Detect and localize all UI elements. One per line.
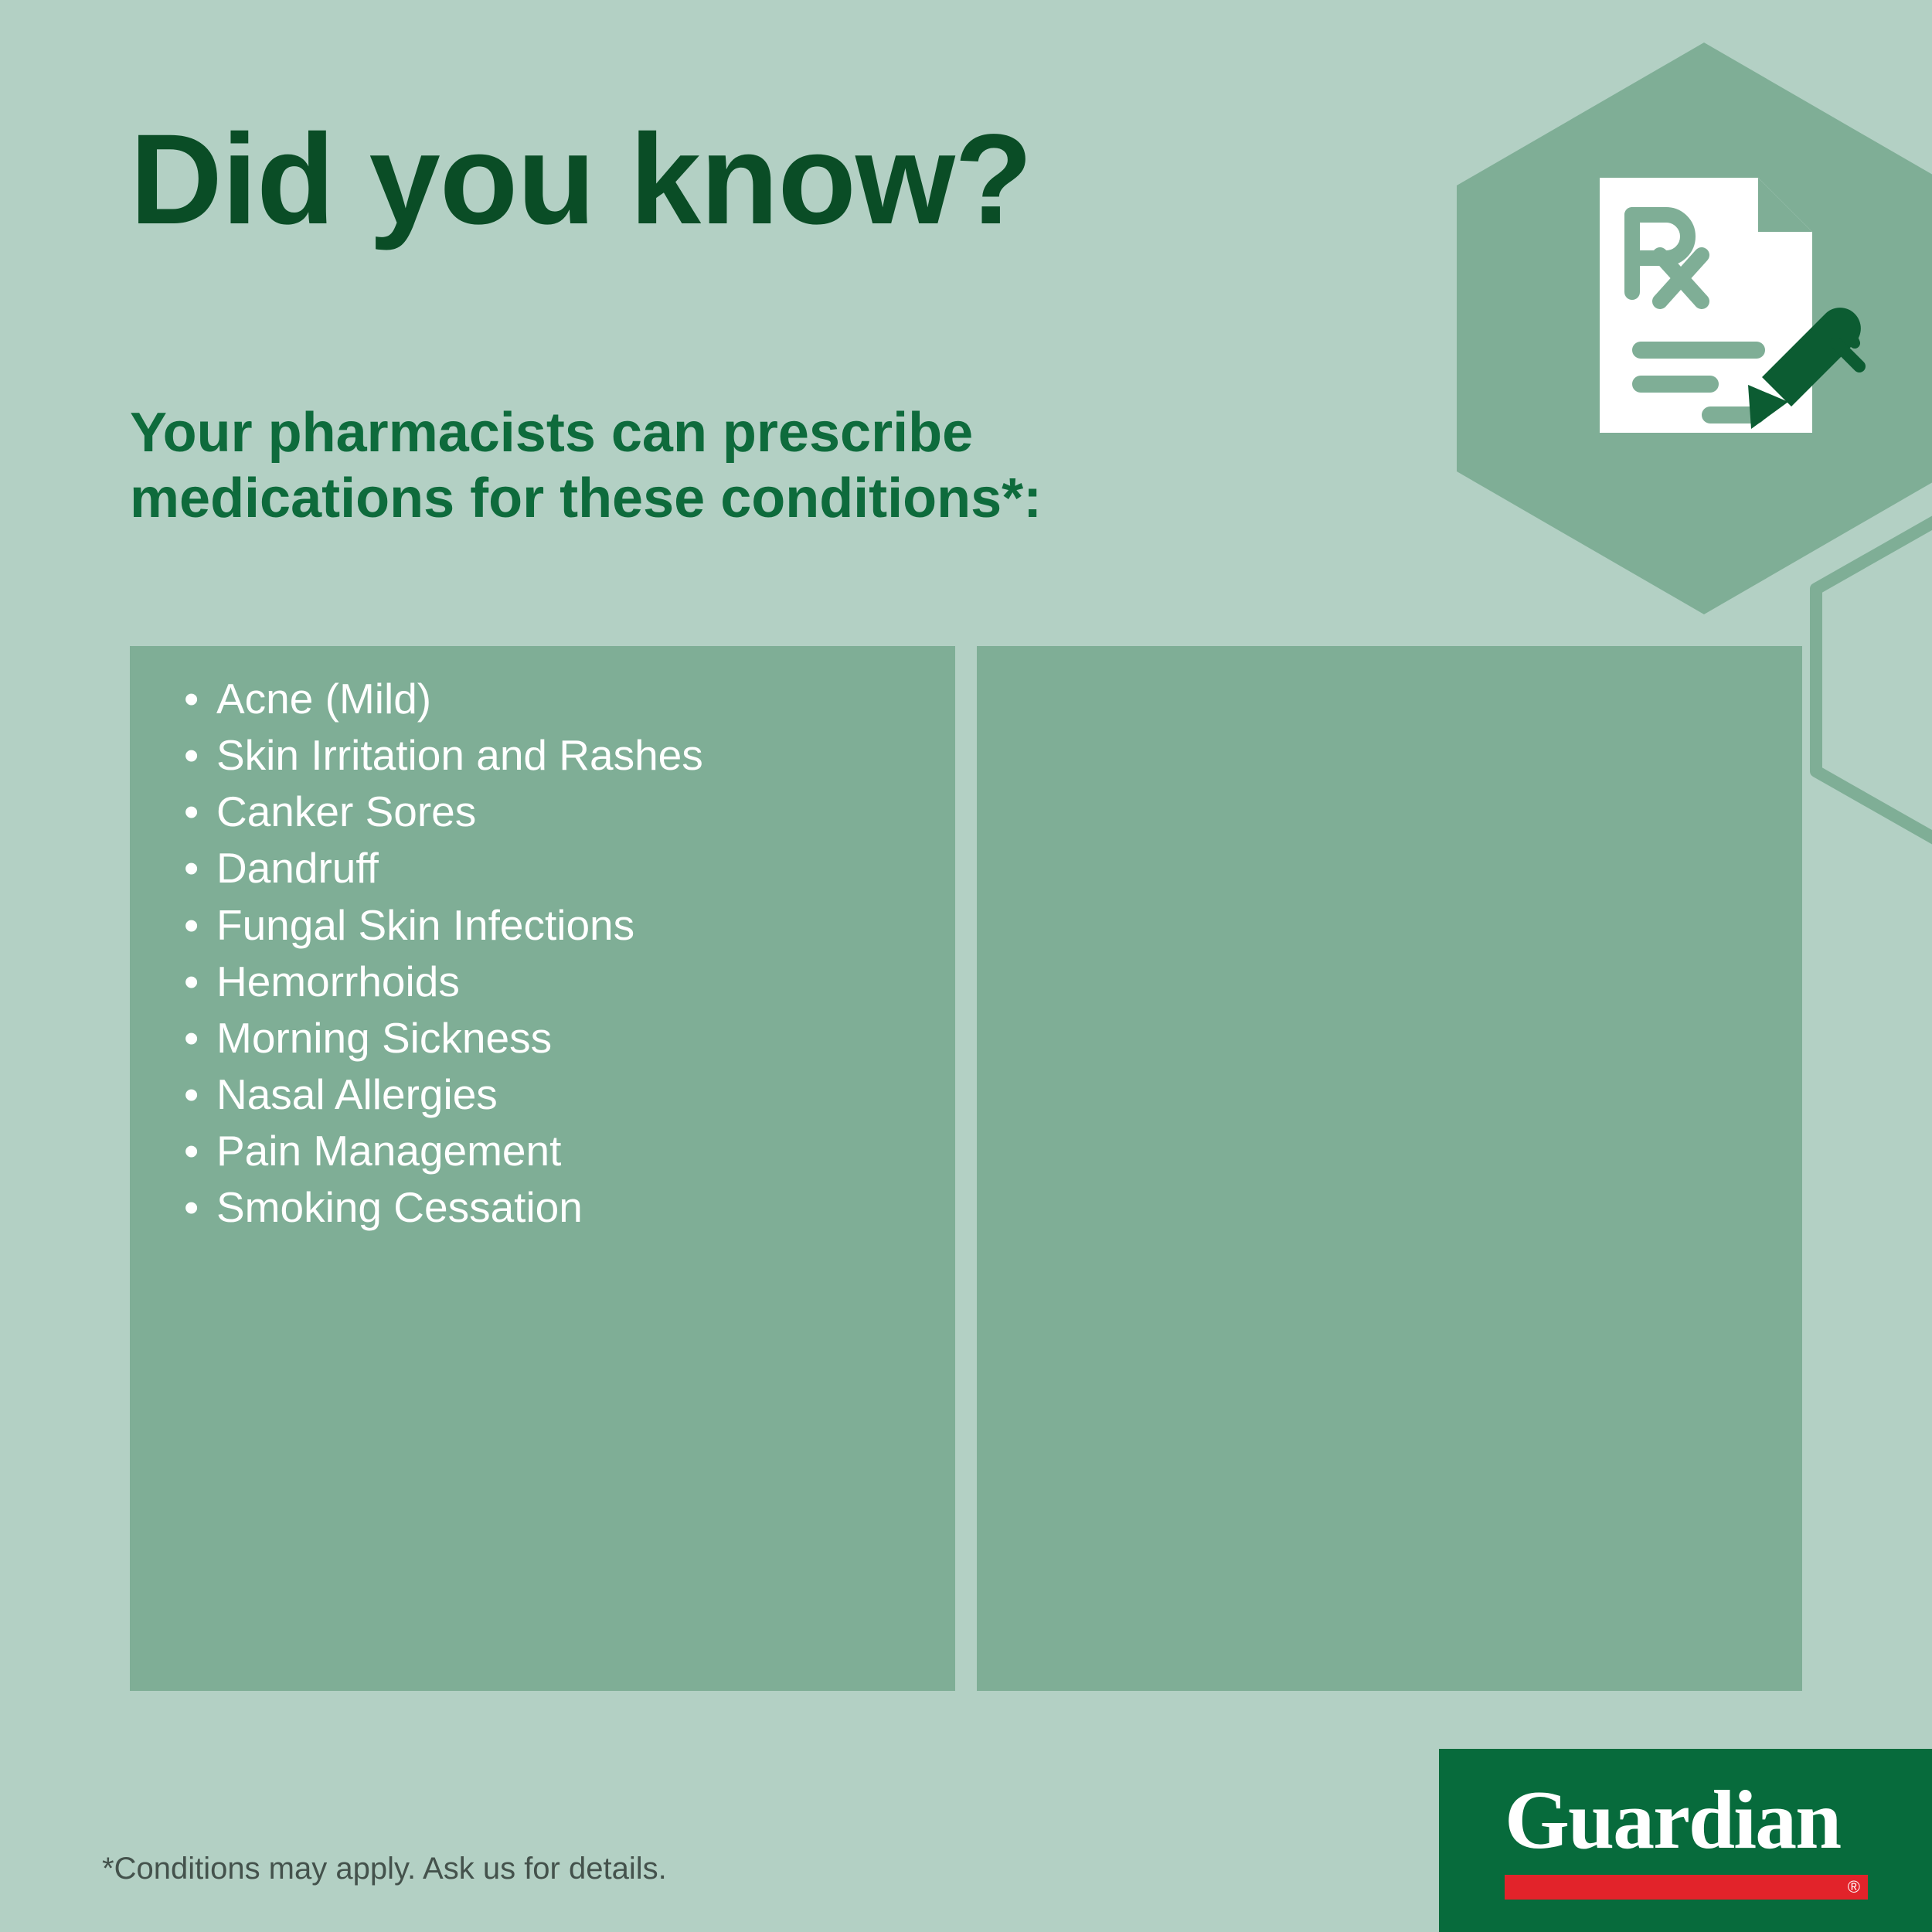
text-line-2 — [1632, 376, 1719, 393]
bullet-icon: • — [184, 954, 216, 1010]
hexagon-shape — [1457, 43, 1932, 614]
signature-line — [1702, 406, 1765, 423]
conditions-list: • Acne (Mild) • Skin Irritation and Rash… — [184, 671, 926, 1236]
list-item: • Nasal Allergies — [184, 1066, 926, 1123]
footnote-text: *Conditions may apply. Ask us for detail… — [102, 1852, 667, 1886]
list-item: • Morning Sickness — [184, 1010, 926, 1066]
logo-red-bar: ® — [1505, 1875, 1868, 1900]
poster-canvas: Did you know? Your pharmacists can presc… — [0, 0, 1932, 1932]
bullet-icon: • — [184, 1066, 216, 1123]
list-item-label: Acne (Mild) — [216, 671, 431, 727]
bullet-icon: • — [184, 840, 216, 896]
list-item-label: Skin Irritation and Rashes — [216, 727, 703, 784]
folded-corner — [1758, 178, 1812, 232]
list-item: • Acne (Mild) — [184, 671, 926, 727]
page-title: Did you know? — [130, 116, 1032, 244]
list-item: • Canker Sores — [184, 784, 926, 840]
bullet-icon: • — [184, 897, 216, 954]
page-subtitle: Your pharmacists can prescribe medicatio… — [130, 400, 1289, 532]
list-item-label: Morning Sickness — [216, 1010, 552, 1066]
hexagon-outline-shape — [1816, 505, 1932, 855]
bullet-icon: • — [184, 1123, 216, 1179]
bullet-icon: • — [184, 1010, 216, 1066]
bullet-icon: • — [184, 784, 216, 840]
subtitle-line-2: medications for these conditions*: — [130, 466, 1289, 532]
list-item: • Skin Irritation and Rashes — [184, 727, 926, 784]
guardian-wordmark: Guardian — [1505, 1786, 1868, 1855]
list-item-label: Fungal Skin Infections — [216, 897, 634, 954]
subtitle-line-1: Your pharmacists can prescribe — [130, 400, 1289, 466]
list-item-label: Smoking Cessation — [216, 1179, 583, 1236]
rx-symbol — [1632, 215, 1702, 301]
list-item-label: Hemorrhoids — [216, 954, 460, 1010]
guardian-logo: Guardian ® — [1439, 1749, 1932, 1932]
bullet-icon: • — [184, 727, 216, 784]
list-item: • Pain Management — [184, 1123, 926, 1179]
conditions-panel-right — [977, 646, 1802, 1691]
list-item: • Hemorrhoids — [184, 954, 926, 1010]
list-item: • Fungal Skin Infections — [184, 897, 926, 954]
hexagon-outline-decoration — [1801, 495, 1932, 866]
pen-icon — [1748, 308, 1861, 429]
registered-trademark-icon: ® — [1848, 1876, 1860, 1898]
list-item-label: Dandruff — [216, 840, 379, 896]
text-line-1 — [1632, 342, 1765, 359]
list-item-label: Canker Sores — [216, 784, 476, 840]
bullet-icon: • — [184, 1179, 216, 1236]
prescription-document-pen-icon — [1600, 178, 1861, 433]
bullet-icon: • — [184, 671, 216, 727]
list-item-label: Nasal Allergies — [216, 1066, 498, 1123]
prescription-hexagon-badge — [1457, 43, 1932, 614]
document-page — [1600, 178, 1812, 433]
list-item: • Dandruff — [184, 840, 926, 896]
list-item: • Smoking Cessation — [184, 1179, 926, 1236]
list-item-label: Pain Management — [216, 1123, 561, 1179]
